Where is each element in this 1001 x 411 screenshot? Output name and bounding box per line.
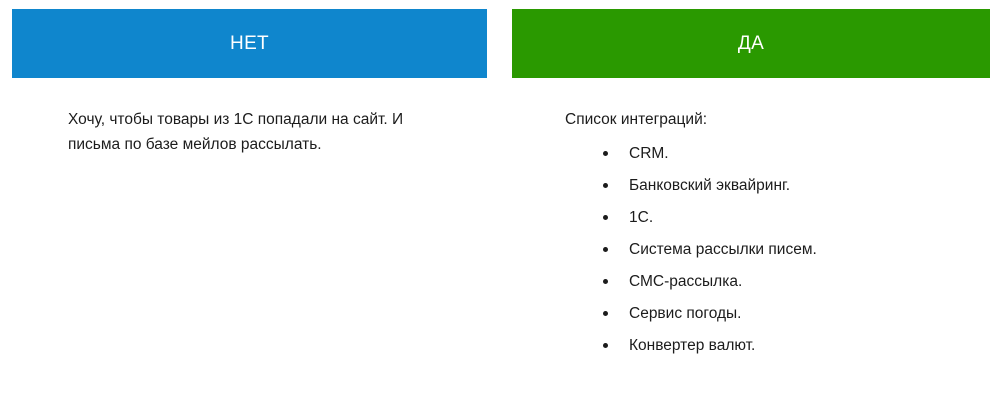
bullet-icon <box>603 183 608 188</box>
list-item-label: Система рассылки писем. <box>629 240 990 260</box>
bullet-icon <box>603 311 608 316</box>
bullet-icon <box>603 215 608 220</box>
list-item-label: СМС-рассылка. <box>629 272 990 292</box>
list-item-label: Банковский эквайринг. <box>629 176 990 196</box>
list-item-label: 1С. <box>629 208 990 228</box>
bullet-icon <box>603 343 608 348</box>
bullet-icon <box>603 279 608 284</box>
list-item: Система рассылки писем. <box>603 240 990 272</box>
bullet-icon <box>603 247 608 252</box>
list-item: СМС-рассылка. <box>603 272 990 304</box>
comparison-page: НЕТ Хочу, чтобы товары из 1С попадали на… <box>0 0 1001 411</box>
list-item: 1С. <box>603 208 990 240</box>
column-yes-body: Список интеграций: CRM. Банковский эквай… <box>512 78 990 411</box>
list-item-label: Сервис погоды. <box>629 304 990 324</box>
integration-list-title: Список интеграций: <box>565 107 965 132</box>
bullet-icon <box>603 151 608 156</box>
column-no-header: НЕТ <box>12 9 487 78</box>
comparison-columns: НЕТ Хочу, чтобы товары из 1С попадали на… <box>0 0 1001 411</box>
list-item: Конвертер валют. <box>603 336 990 368</box>
integration-list: CRM. Банковский эквайринг. 1С. Система р… <box>512 144 990 368</box>
list-item: Сервис погоды. <box>603 304 990 336</box>
column-no-body: Хочу, чтобы товары из 1С попадали на сай… <box>12 78 487 411</box>
column-yes-header: ДА <box>512 9 990 78</box>
list-item: CRM. <box>603 144 990 176</box>
list-item-label: Конвертер валют. <box>629 336 990 356</box>
list-item-label: CRM. <box>629 144 990 164</box>
column-yes: ДА Список интеграций: CRM. Банковский эк… <box>500 0 1001 411</box>
list-item: Банковский эквайринг. <box>603 176 990 208</box>
column-no-paragraph: Хочу, чтобы товары из 1С попадали на сай… <box>68 107 413 157</box>
column-no: НЕТ Хочу, чтобы товары из 1С попадали на… <box>0 0 500 411</box>
